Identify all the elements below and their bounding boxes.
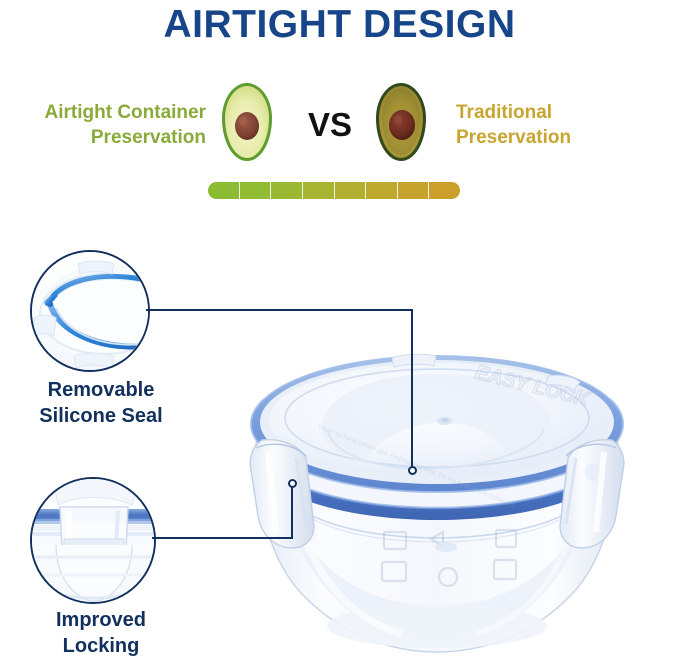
product-photo: EASY LOCK Wash by hand before use. Dishw… [196, 248, 679, 669]
freshness-gradient-bar [208, 182, 460, 199]
freshness-segment [366, 182, 398, 199]
freshness-segment [303, 182, 335, 199]
freshness-segment [335, 182, 367, 199]
freshness-segment [240, 182, 272, 199]
traditional-preservation-label-line1: Traditional [456, 100, 672, 125]
airtight-preservation-label: Airtight Container Preservation [0, 100, 206, 150]
leader-line-seal-vertical [411, 309, 413, 469]
freshness-segment [271, 182, 303, 199]
fresh-avocado-icon [220, 82, 274, 162]
leader-dot-locking [288, 479, 297, 488]
callout-improved-locking [30, 477, 156, 604]
callout-removable-silicone-seal [30, 250, 150, 372]
leader-line-seal-horizontal [146, 309, 413, 311]
traditional-preservation-label-line2: Preservation [456, 125, 672, 150]
callout-caption-line2: Locking [6, 633, 196, 659]
versus-label: VS [300, 105, 360, 145]
callout-caption-line2: Silicone Seal [6, 403, 196, 429]
leader-line-locking-vertical [291, 486, 293, 539]
airtight-preservation-label-line1: Airtight Container [0, 100, 206, 125]
leader-dot-seal [408, 466, 417, 475]
airtight-preservation-label-line2: Preservation [0, 125, 206, 150]
freshness-segment [429, 182, 460, 199]
oxidized-avocado-icon [374, 82, 428, 162]
freshness-segment [208, 182, 240, 199]
callout-caption-line1: Improved [6, 607, 196, 633]
callout-caption-improved-locking: Improved Locking [6, 607, 196, 659]
page-title: AIRTIGHT DESIGN [0, 2, 679, 48]
traditional-preservation-label: Traditional Preservation [456, 100, 672, 150]
airtight-design-infographic: AIRTIGHT DESIGN Airtight Container Prese… [0, 0, 679, 669]
leader-line-locking-horizontal [152, 537, 292, 539]
callout-caption-removable-silicone-seal: Removable Silicone Seal [6, 377, 196, 429]
freshness-segment [398, 182, 430, 199]
callout-caption-line1: Removable [6, 377, 196, 403]
